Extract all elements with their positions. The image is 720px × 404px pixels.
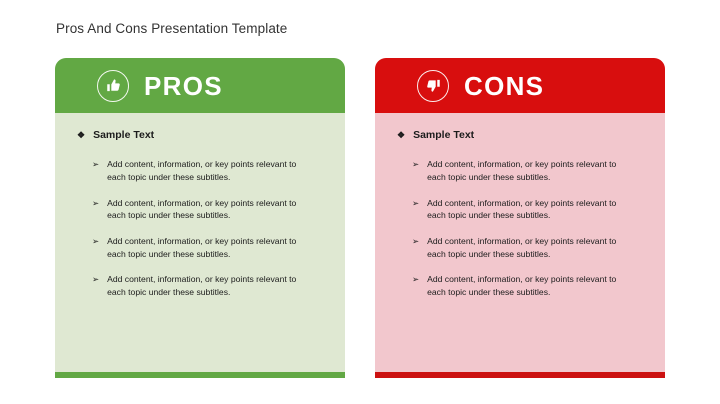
arrow-bullet-icon: ➢ xyxy=(92,197,99,210)
list-item-text: Add content, information, or key points … xyxy=(107,197,303,222)
arrow-bullet-icon: ➢ xyxy=(412,235,419,248)
list-item: ➢ Add content, information, or key point… xyxy=(92,158,327,183)
thumbs-down-icon xyxy=(417,70,449,102)
cons-card-header: CONS xyxy=(375,58,665,113)
pros-subtitle: ❖ Sample Text xyxy=(77,129,327,141)
arrow-bullet-icon: ➢ xyxy=(412,273,419,286)
arrow-bullet-icon: ➢ xyxy=(92,158,99,171)
list-item: ➢ Add content, information, or key point… xyxy=(412,158,647,183)
list-item-text: Add content, information, or key points … xyxy=(107,158,303,183)
arrow-bullet-icon: ➢ xyxy=(92,235,99,248)
page-title: Pros And Cons Presentation Template xyxy=(56,21,287,36)
list-item-text: Add content, information, or key points … xyxy=(107,235,303,260)
list-item-text: Add content, information, or key points … xyxy=(427,235,623,260)
thumbs-up-icon xyxy=(97,70,129,102)
diamond-bullet-icon: ❖ xyxy=(397,129,405,141)
list-item: ➢ Add content, information, or key point… xyxy=(92,235,327,260)
pros-cons-cards-container: PROS ❖ Sample Text ➢ Add content, inform… xyxy=(55,58,665,378)
pros-bullet-list: ➢ Add content, information, or key point… xyxy=(77,158,327,299)
pros-card-heading: PROS xyxy=(144,73,223,99)
pros-subtitle-label: Sample Text xyxy=(93,129,154,141)
arrow-bullet-icon: ➢ xyxy=(92,273,99,286)
cons-card-body: ❖ Sample Text ➢ Add content, information… xyxy=(375,113,665,372)
list-item: ➢ Add content, information, or key point… xyxy=(412,235,647,260)
cons-card: CONS ❖ Sample Text ➢ Add content, inform… xyxy=(375,58,665,378)
arrow-bullet-icon: ➢ xyxy=(412,197,419,210)
list-item-text: Add content, information, or key points … xyxy=(427,158,623,183)
list-item: ➢ Add content, information, or key point… xyxy=(412,197,647,222)
list-item-text: Add content, information, or key points … xyxy=(427,273,623,298)
pros-card-footer-bar xyxy=(55,372,345,378)
cons-subtitle: ❖ Sample Text xyxy=(397,129,647,141)
pros-card-header: PROS xyxy=(55,58,345,113)
list-item: ➢ Add content, information, or key point… xyxy=(92,273,327,298)
cons-card-heading: CONS xyxy=(464,73,544,99)
list-item-text: Add content, information, or key points … xyxy=(427,197,623,222)
pros-card-body: ❖ Sample Text ➢ Add content, information… xyxy=(55,113,345,372)
cons-subtitle-label: Sample Text xyxy=(413,129,474,141)
list-item: ➢ Add content, information, or key point… xyxy=(412,273,647,298)
diamond-bullet-icon: ❖ xyxy=(77,129,85,141)
list-item: ➢ Add content, information, or key point… xyxy=(92,197,327,222)
cons-card-footer-bar xyxy=(375,372,665,378)
pros-card: PROS ❖ Sample Text ➢ Add content, inform… xyxy=(55,58,345,378)
arrow-bullet-icon: ➢ xyxy=(412,158,419,171)
list-item-text: Add content, information, or key points … xyxy=(107,273,303,298)
cons-bullet-list: ➢ Add content, information, or key point… xyxy=(397,158,647,299)
